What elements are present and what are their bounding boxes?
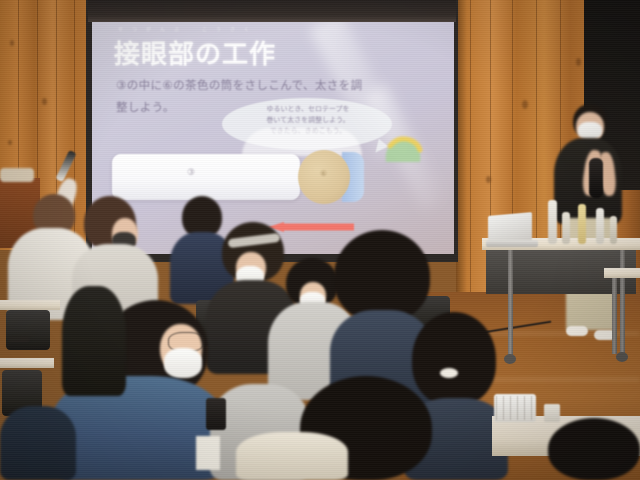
projected-slide: せつがんぶ こうさく 接眼部の工作 ③の中に⑥の茶色の筒をさしこんで、太さを調 … bbox=[92, 22, 454, 254]
presenter-table-leg-left bbox=[508, 250, 513, 358]
child-8-body bbox=[62, 286, 126, 396]
bottle-small bbox=[562, 212, 570, 244]
side-table-leg bbox=[612, 278, 617, 354]
slide-furigana: せつがんぶ こうさく bbox=[118, 26, 258, 33]
diagram-lens-label: ⑥ bbox=[320, 169, 327, 178]
child-6-ear-mask-loop bbox=[440, 368, 458, 378]
supply-tube-yellow bbox=[578, 204, 586, 244]
audience-table-left bbox=[0, 300, 60, 310]
slide-body-line-1: ③の中に⑥の茶色の筒をさしこんで、太さを調 bbox=[116, 74, 426, 96]
diagram-tube-label: ③ bbox=[187, 168, 195, 178]
red-insert-arrow bbox=[268, 222, 354, 232]
child-6-hair bbox=[412, 312, 496, 406]
audience-table-left-2 bbox=[0, 358, 54, 368]
laptop-base bbox=[486, 240, 538, 247]
supply-tube-white bbox=[596, 208, 604, 244]
supply-marker bbox=[610, 216, 617, 244]
foreground-paper bbox=[196, 436, 220, 470]
cup-on-table bbox=[544, 404, 560, 422]
table-caster-left bbox=[504, 354, 516, 364]
child-4-hair bbox=[334, 230, 430, 322]
bottle-tall bbox=[548, 200, 557, 244]
child-2-mask bbox=[164, 348, 202, 378]
bubble-line-1: ゆるいとき、セロテープを bbox=[232, 104, 384, 115]
classroom-photo: せつがんぶ こうさく 接眼部の工作 ③の中に⑥の茶色の筒をさしこんで、太さを調 … bbox=[0, 0, 640, 480]
side-table-top bbox=[604, 268, 640, 278]
basket-grid-lines bbox=[496, 396, 534, 420]
cabinet-top-item bbox=[0, 168, 34, 182]
table-caster-right bbox=[616, 352, 628, 362]
slide-title: 接眼部の工作 bbox=[114, 34, 276, 71]
hand-illustration bbox=[380, 132, 426, 166]
presenter-table-leg-right bbox=[620, 250, 625, 356]
child-5-body bbox=[236, 432, 348, 480]
bubble-line-2: 巻いて太さを調整しよう。 bbox=[232, 115, 384, 126]
table-item-dark bbox=[8, 336, 30, 342]
presenter-shoe-left bbox=[566, 326, 588, 336]
presenter-mask bbox=[578, 122, 602, 139]
presenter-held-tube bbox=[589, 158, 603, 198]
diagram-white-tube bbox=[112, 154, 300, 200]
screen-top-shadow-band bbox=[88, 0, 456, 22]
foreground-dark-cup bbox=[206, 398, 226, 430]
child-9-body bbox=[0, 406, 76, 480]
audience-chair-1 bbox=[6, 310, 50, 350]
child-10-hair bbox=[548, 418, 640, 480]
